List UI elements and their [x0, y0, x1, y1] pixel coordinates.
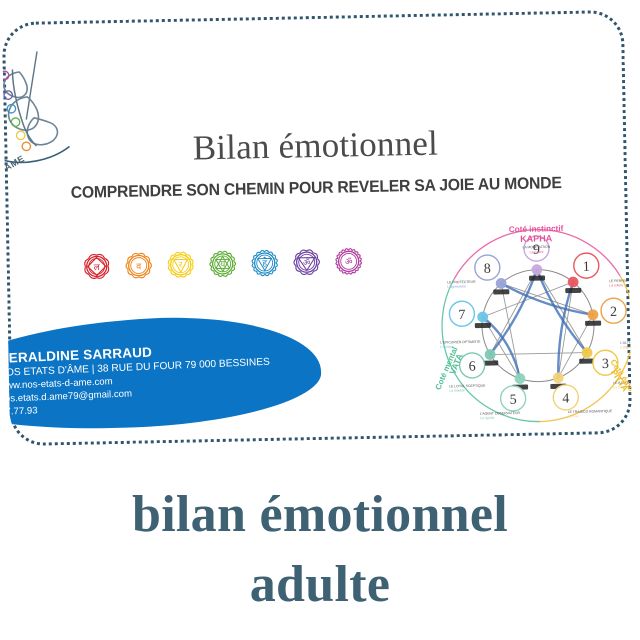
enneagram-point-7: 7 — [449, 301, 474, 326]
svg-text:व: व — [136, 262, 142, 272]
manipura-chakra-icon: र — [162, 246, 199, 283]
svg-text:L'envie: L'envie — [568, 414, 579, 418]
flyer-subtitle: COMPRENDRE SON CHEMIN POUR REVELER SA JO… — [19, 173, 613, 204]
svg-text:La colère: La colère — [609, 283, 623, 287]
enneagram-diagram: 123456789LE PERFECTIONNISTELa colèreL'AL… — [432, 216, 632, 428]
svg-text:6: 6 — [468, 360, 475, 375]
svg-text:LA MODERATION: LA MODERATION — [523, 245, 551, 250]
svg-text:5: 5 — [510, 393, 517, 408]
svg-text:8: 8 — [484, 262, 491, 277]
svg-text:य: य — [220, 260, 226, 270]
flyer-content: D'ÂME Bilan émotionnel COMPRENDRE SON CH… — [2, 10, 632, 446]
enneagram-point-5: 5 — [500, 386, 525, 411]
contact-details: GERALDINE SARRAUD NOS ETATS D'ÂME | 38 R… — [2, 337, 330, 419]
svg-text:ल: ल — [94, 263, 101, 273]
svg-text:7: 7 — [458, 308, 465, 323]
product-title: bilan émotionnel adulte — [0, 480, 640, 619]
product-title-line2: adulte — [0, 550, 640, 620]
enneagram-point-8: 8 — [475, 255, 500, 280]
svg-text:4: 4 — [562, 392, 569, 407]
sahasrara-chakra-icon: ॐ — [330, 243, 367, 280]
anahata-chakra-icon: य — [204, 246, 241, 283]
ajna-chakra-icon: ॐ — [288, 244, 325, 281]
enneagram-point-4: 4 — [553, 385, 578, 410]
vishuddha-chakra-icon: ह — [246, 245, 283, 282]
svg-text:La rigidité: La rigidité — [480, 416, 495, 420]
muladhara-chakra-icon: ल — [78, 248, 115, 285]
flyer-card: D'ÂME Bilan émotionnel COMPRENDRE SON CH… — [2, 10, 632, 446]
product-title-line1: bilan émotionnel — [0, 480, 640, 550]
svg-text:3: 3 — [602, 357, 609, 372]
enneagram-point-1: 1 — [574, 253, 599, 278]
svg-text:ॐ: ॐ — [303, 257, 311, 267]
svadhisthana-chakra-icon: व — [120, 247, 157, 284]
chakra-row: लवरयहॐॐ — [78, 243, 367, 285]
svg-text:ॐ: ॐ — [345, 256, 353, 266]
svg-text:KAPHA: KAPHA — [520, 233, 553, 244]
svg-text:र: र — [179, 261, 183, 271]
svg-text:ह: ह — [262, 259, 267, 269]
svg-text:L'orgueil: L'orgueil — [620, 345, 632, 349]
svg-text:2: 2 — [610, 305, 617, 320]
svg-text:La colère: La colère — [530, 250, 544, 254]
flyer-title: Bilan émotionnel — [4, 122, 627, 171]
enneagram-svg: 123456789LE PERFECTIONNISTELa colèreL'AL… — [432, 216, 632, 428]
svg-text:L'agressivité: L'agressivité — [447, 284, 466, 288]
enneagram-point-2: 2 — [601, 298, 626, 323]
svg-text:1: 1 — [583, 260, 590, 275]
svg-text:La timidité: La timidité — [449, 388, 465, 392]
